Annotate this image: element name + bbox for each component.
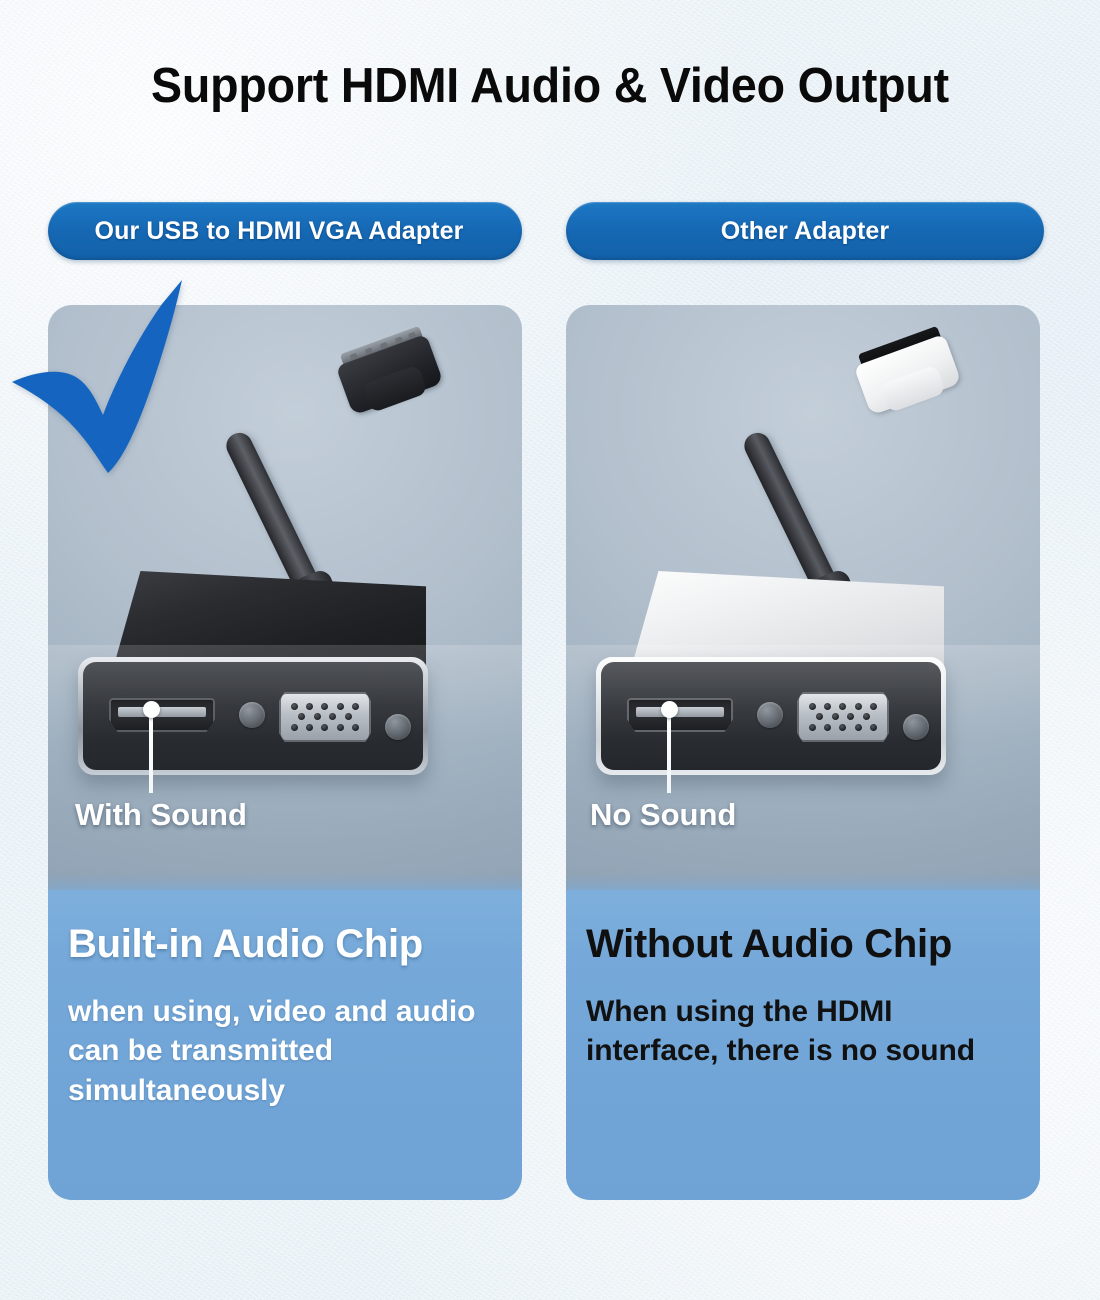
screw-icon-right <box>385 714 411 740</box>
band-heading-ours: Built-in Audio Chip <box>68 924 500 966</box>
hdmi-port-icon <box>109 698 215 732</box>
infographic-page: Support HDMI Audio & Video Output Our US… <box>0 0 1100 1300</box>
pill-label-other: Other Adapter <box>721 217 889 246</box>
product-photo-other: No Sound <box>566 305 1040 897</box>
callout-leader-line-other <box>667 715 671 793</box>
adapter-faceplate <box>83 662 423 770</box>
pill-label-ours: Our USB to HDMI VGA Adapter <box>95 217 464 246</box>
comparison-card-other: No Sound Without Audio Chip When using t… <box>566 305 1040 1200</box>
band-heading-other: Without Audio Chip <box>586 924 1018 966</box>
usb-3-type-a-plug-icon <box>332 324 443 415</box>
screw-icon-left <box>757 702 783 728</box>
adapter-faceplate <box>601 662 941 770</box>
band-body-other: When using the HDMI interface, there is … <box>586 992 1018 1072</box>
page-title: Support HDMI Audio & Video Output <box>28 58 1073 114</box>
column-header-pill-other: Other Adapter <box>566 202 1044 260</box>
callout-label-other: No Sound <box>590 797 736 833</box>
adapter-top-face <box>94 571 426 689</box>
adapter-top-face <box>612 571 944 689</box>
screw-icon-right <box>903 714 929 740</box>
adapter-front-face <box>596 657 946 775</box>
description-band-ours: Built-in Audio Chip when using, video an… <box>48 890 522 1200</box>
band-body-ours: when using, video and audio can be trans… <box>68 992 500 1112</box>
adapter-silver-bezel <box>78 657 428 775</box>
hdmi-port-icon <box>627 698 733 732</box>
vga-port-icon <box>797 692 889 742</box>
callout-dot-icon-other <box>661 701 678 718</box>
adapter-front-face <box>78 657 428 775</box>
vga-port-icon <box>279 692 371 742</box>
column-header-pill-ours: Our USB to HDMI VGA Adapter <box>48 202 522 260</box>
callout-label-ours: With Sound <box>75 797 247 833</box>
usb-3-type-a-plug-icon <box>850 324 961 415</box>
callout-leader-line-ours <box>149 715 153 793</box>
description-band-other: Without Audio Chip When using the HDMI i… <box>566 890 1040 1200</box>
adapter-silver-bezel <box>596 657 946 775</box>
screw-icon-left <box>239 702 265 728</box>
callout-dot-icon-ours <box>143 701 160 718</box>
check-mark-icon <box>4 276 212 476</box>
